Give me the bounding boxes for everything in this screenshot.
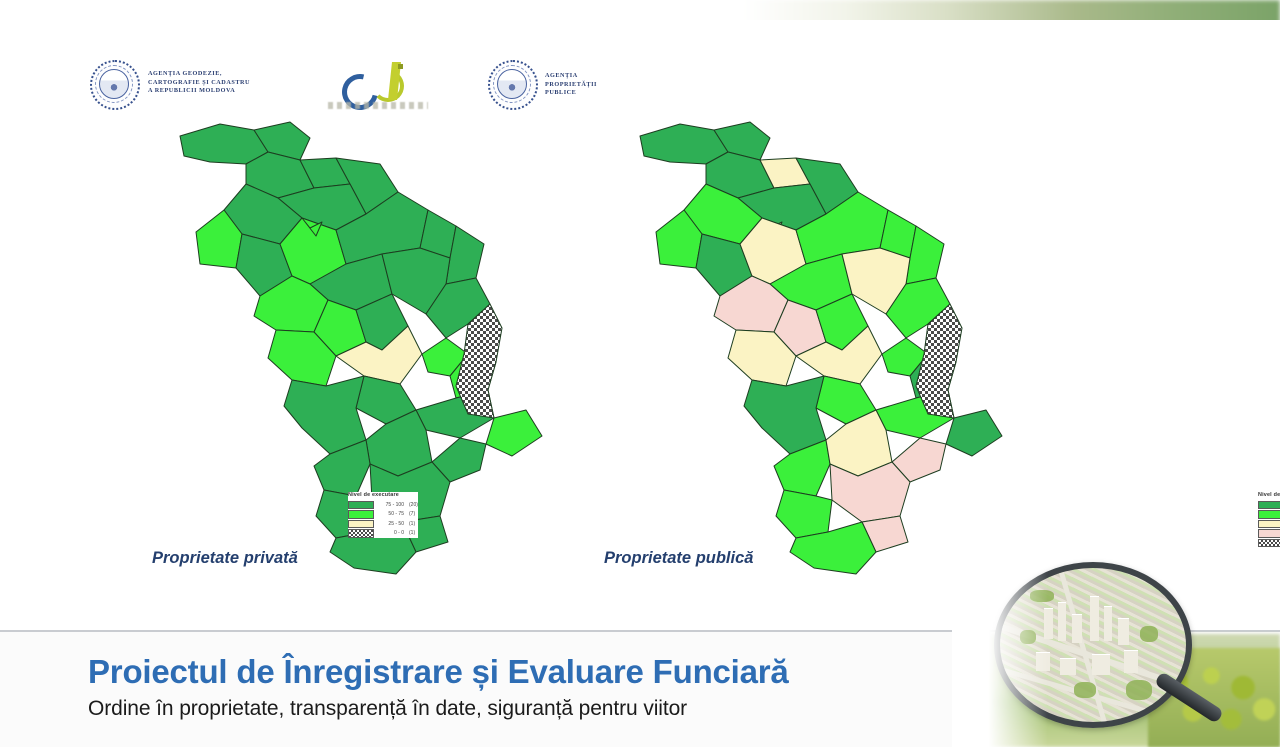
map-proprietate-privata: Nivel de executare 75 - 100 (20) 50 - 75… bbox=[150, 118, 570, 578]
mag-building bbox=[1104, 606, 1112, 641]
district-stefan-voda[interactable] bbox=[486, 410, 542, 456]
agcc-line-1: Agenția Geodezie, bbox=[148, 70, 268, 79]
state-seal-icon bbox=[90, 60, 140, 110]
legend-row[interactable]: 75 - 100 (11) bbox=[1258, 500, 1280, 510]
legend-row[interactable]: 25 - 50 (6) bbox=[1258, 519, 1280, 529]
legend-row[interactable]: 25 - 50 (1) bbox=[348, 519, 418, 529]
seal-ring-icon bbox=[95, 65, 133, 103]
mag-building bbox=[1072, 614, 1082, 643]
legend-title: Nivel de executare bbox=[348, 492, 418, 498]
legend-row[interactable]: 0 - 0 (1) bbox=[348, 529, 418, 539]
agcc-line-3: a Republicii Moldova bbox=[148, 87, 268, 96]
legend-swatch-dark-green bbox=[1258, 501, 1280, 510]
cti-logo bbox=[328, 58, 428, 113]
legend-swatch-hatch bbox=[1258, 539, 1280, 548]
district-hincesti[interactable] bbox=[284, 376, 366, 454]
legend-count: (7) bbox=[409, 511, 415, 517]
legend-swatch-bright-green bbox=[1258, 510, 1280, 519]
app-line-2: Proprietății bbox=[545, 81, 635, 90]
legend-swatch-cream bbox=[1258, 520, 1280, 529]
cti-dot-icon bbox=[398, 64, 403, 69]
legend-row[interactable]: 50 - 75 (11) bbox=[1258, 510, 1280, 520]
legend-public: Nivel de executare 75 - 100 (11) 50 - 75… bbox=[1258, 492, 1280, 548]
seal-ring-icon bbox=[493, 65, 531, 103]
legend-count: (20) bbox=[409, 502, 418, 508]
logo-row: Agenția Geodezie, Cartografie și Cadastr… bbox=[80, 58, 600, 113]
legend-range: 0 - 0 bbox=[378, 530, 404, 536]
legend-range: 75 - 100 bbox=[378, 502, 404, 508]
state-seal-icon bbox=[488, 60, 538, 110]
legend-count: (1) bbox=[409, 521, 415, 527]
district-hincesti[interactable] bbox=[744, 376, 826, 454]
legend-swatch-dark-green bbox=[348, 501, 374, 510]
cti-subtitle-text bbox=[328, 102, 428, 109]
legend-private: Nivel de executare 75 - 100 (20) 50 - 75… bbox=[348, 492, 418, 538]
mag-building bbox=[1124, 650, 1138, 673]
legend-title: Nivel de executare bbox=[1258, 492, 1280, 498]
app-line-1: Agenția bbox=[545, 72, 635, 81]
mag-tree bbox=[1126, 680, 1152, 700]
legend-count: (1) bbox=[409, 530, 415, 536]
district-stefan-voda[interactable] bbox=[946, 410, 1002, 456]
legend-row[interactable]: 1 - 25 (6) bbox=[1258, 529, 1280, 539]
mag-building bbox=[1118, 618, 1129, 645]
mag-tree bbox=[1074, 682, 1096, 698]
photo-fade-left bbox=[952, 556, 1048, 747]
caption-proprietate-privata: Proprietate privată bbox=[152, 549, 298, 568]
legend-range: 50 - 75 bbox=[378, 511, 404, 517]
page-subtitle: Ordine în proprietate, transparență în d… bbox=[88, 697, 687, 721]
mag-tree bbox=[1140, 626, 1158, 642]
legend-row[interactable]: 50 - 75 (7) bbox=[348, 510, 418, 520]
legend-row[interactable]: 75 - 100 (20) bbox=[348, 500, 418, 510]
page-title: Proiectul de Înregistrare și Evaluare Fu… bbox=[88, 653, 789, 691]
legend-swatch-pink bbox=[1258, 529, 1280, 538]
district-gagauzia[interactable] bbox=[830, 462, 910, 522]
legend-swatch-bright-green bbox=[348, 510, 374, 519]
district-cantemir[interactable] bbox=[776, 490, 832, 538]
legend-swatch-hatch bbox=[348, 529, 374, 538]
caption-proprietate-publica: Proprietate publică bbox=[604, 549, 753, 568]
agcc-line-2: Cartografie și Cadastru bbox=[148, 79, 268, 88]
agcc-logo-text: Agenția Geodezie, Cartografie și Cadastr… bbox=[148, 70, 268, 96]
legend-row[interactable]: 0 - 0 (1) bbox=[1258, 538, 1280, 548]
magnifier-photo bbox=[952, 556, 1280, 747]
mag-building bbox=[1090, 596, 1099, 641]
mag-building bbox=[1092, 654, 1110, 675]
legend-range: 25 - 50 bbox=[378, 521, 404, 527]
app-logo-text: Agenția Proprietății Publice bbox=[545, 72, 635, 98]
mag-building bbox=[1058, 602, 1066, 641]
moldova-map-public-svg bbox=[610, 118, 1030, 578]
mag-building bbox=[1060, 658, 1076, 675]
legend-swatch-cream bbox=[348, 520, 374, 529]
map-proprietate-publica: Nivel de executare 75 - 100 (11) 50 - 75… bbox=[610, 118, 1030, 578]
app-line-3: Publice bbox=[545, 89, 635, 98]
